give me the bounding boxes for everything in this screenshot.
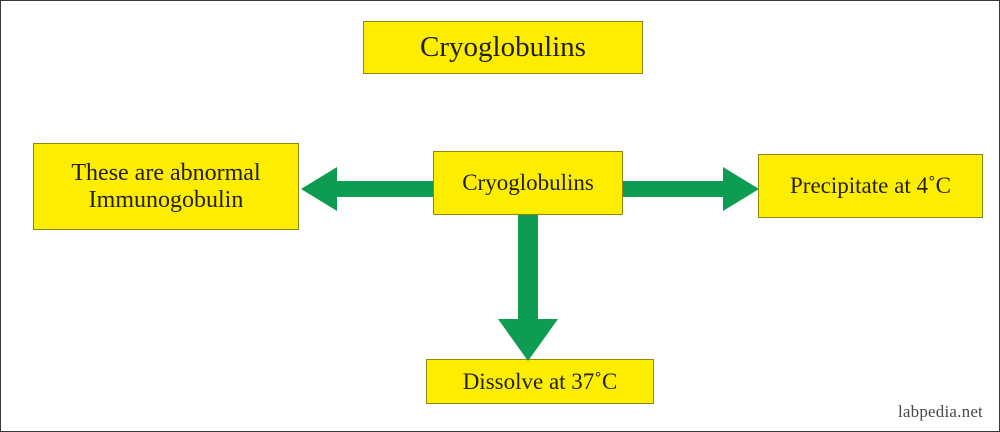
node-box-precipitate-at-4c: Precipitate at 4˚C — [758, 154, 983, 218]
watermark-label: labpedia.net — [898, 402, 983, 422]
node-box-dissolve-at-37c: Dissolve at 37˚C — [426, 359, 654, 404]
arrow-down-icon — [497, 215, 559, 361]
arrow-right-icon — [623, 166, 759, 212]
node-box-cryoglobulins: Cryoglobulins — [433, 151, 623, 215]
node-box-abnormal-immunoglobulin: These are abnormal Immunogobulin — [33, 143, 299, 230]
diagram-canvas: Cryoglobulins These are abnormal Immunog… — [0, 0, 1000, 432]
arrow-left-icon — [301, 166, 433, 212]
diagram-title-box: Cryoglobulins — [363, 21, 643, 74]
